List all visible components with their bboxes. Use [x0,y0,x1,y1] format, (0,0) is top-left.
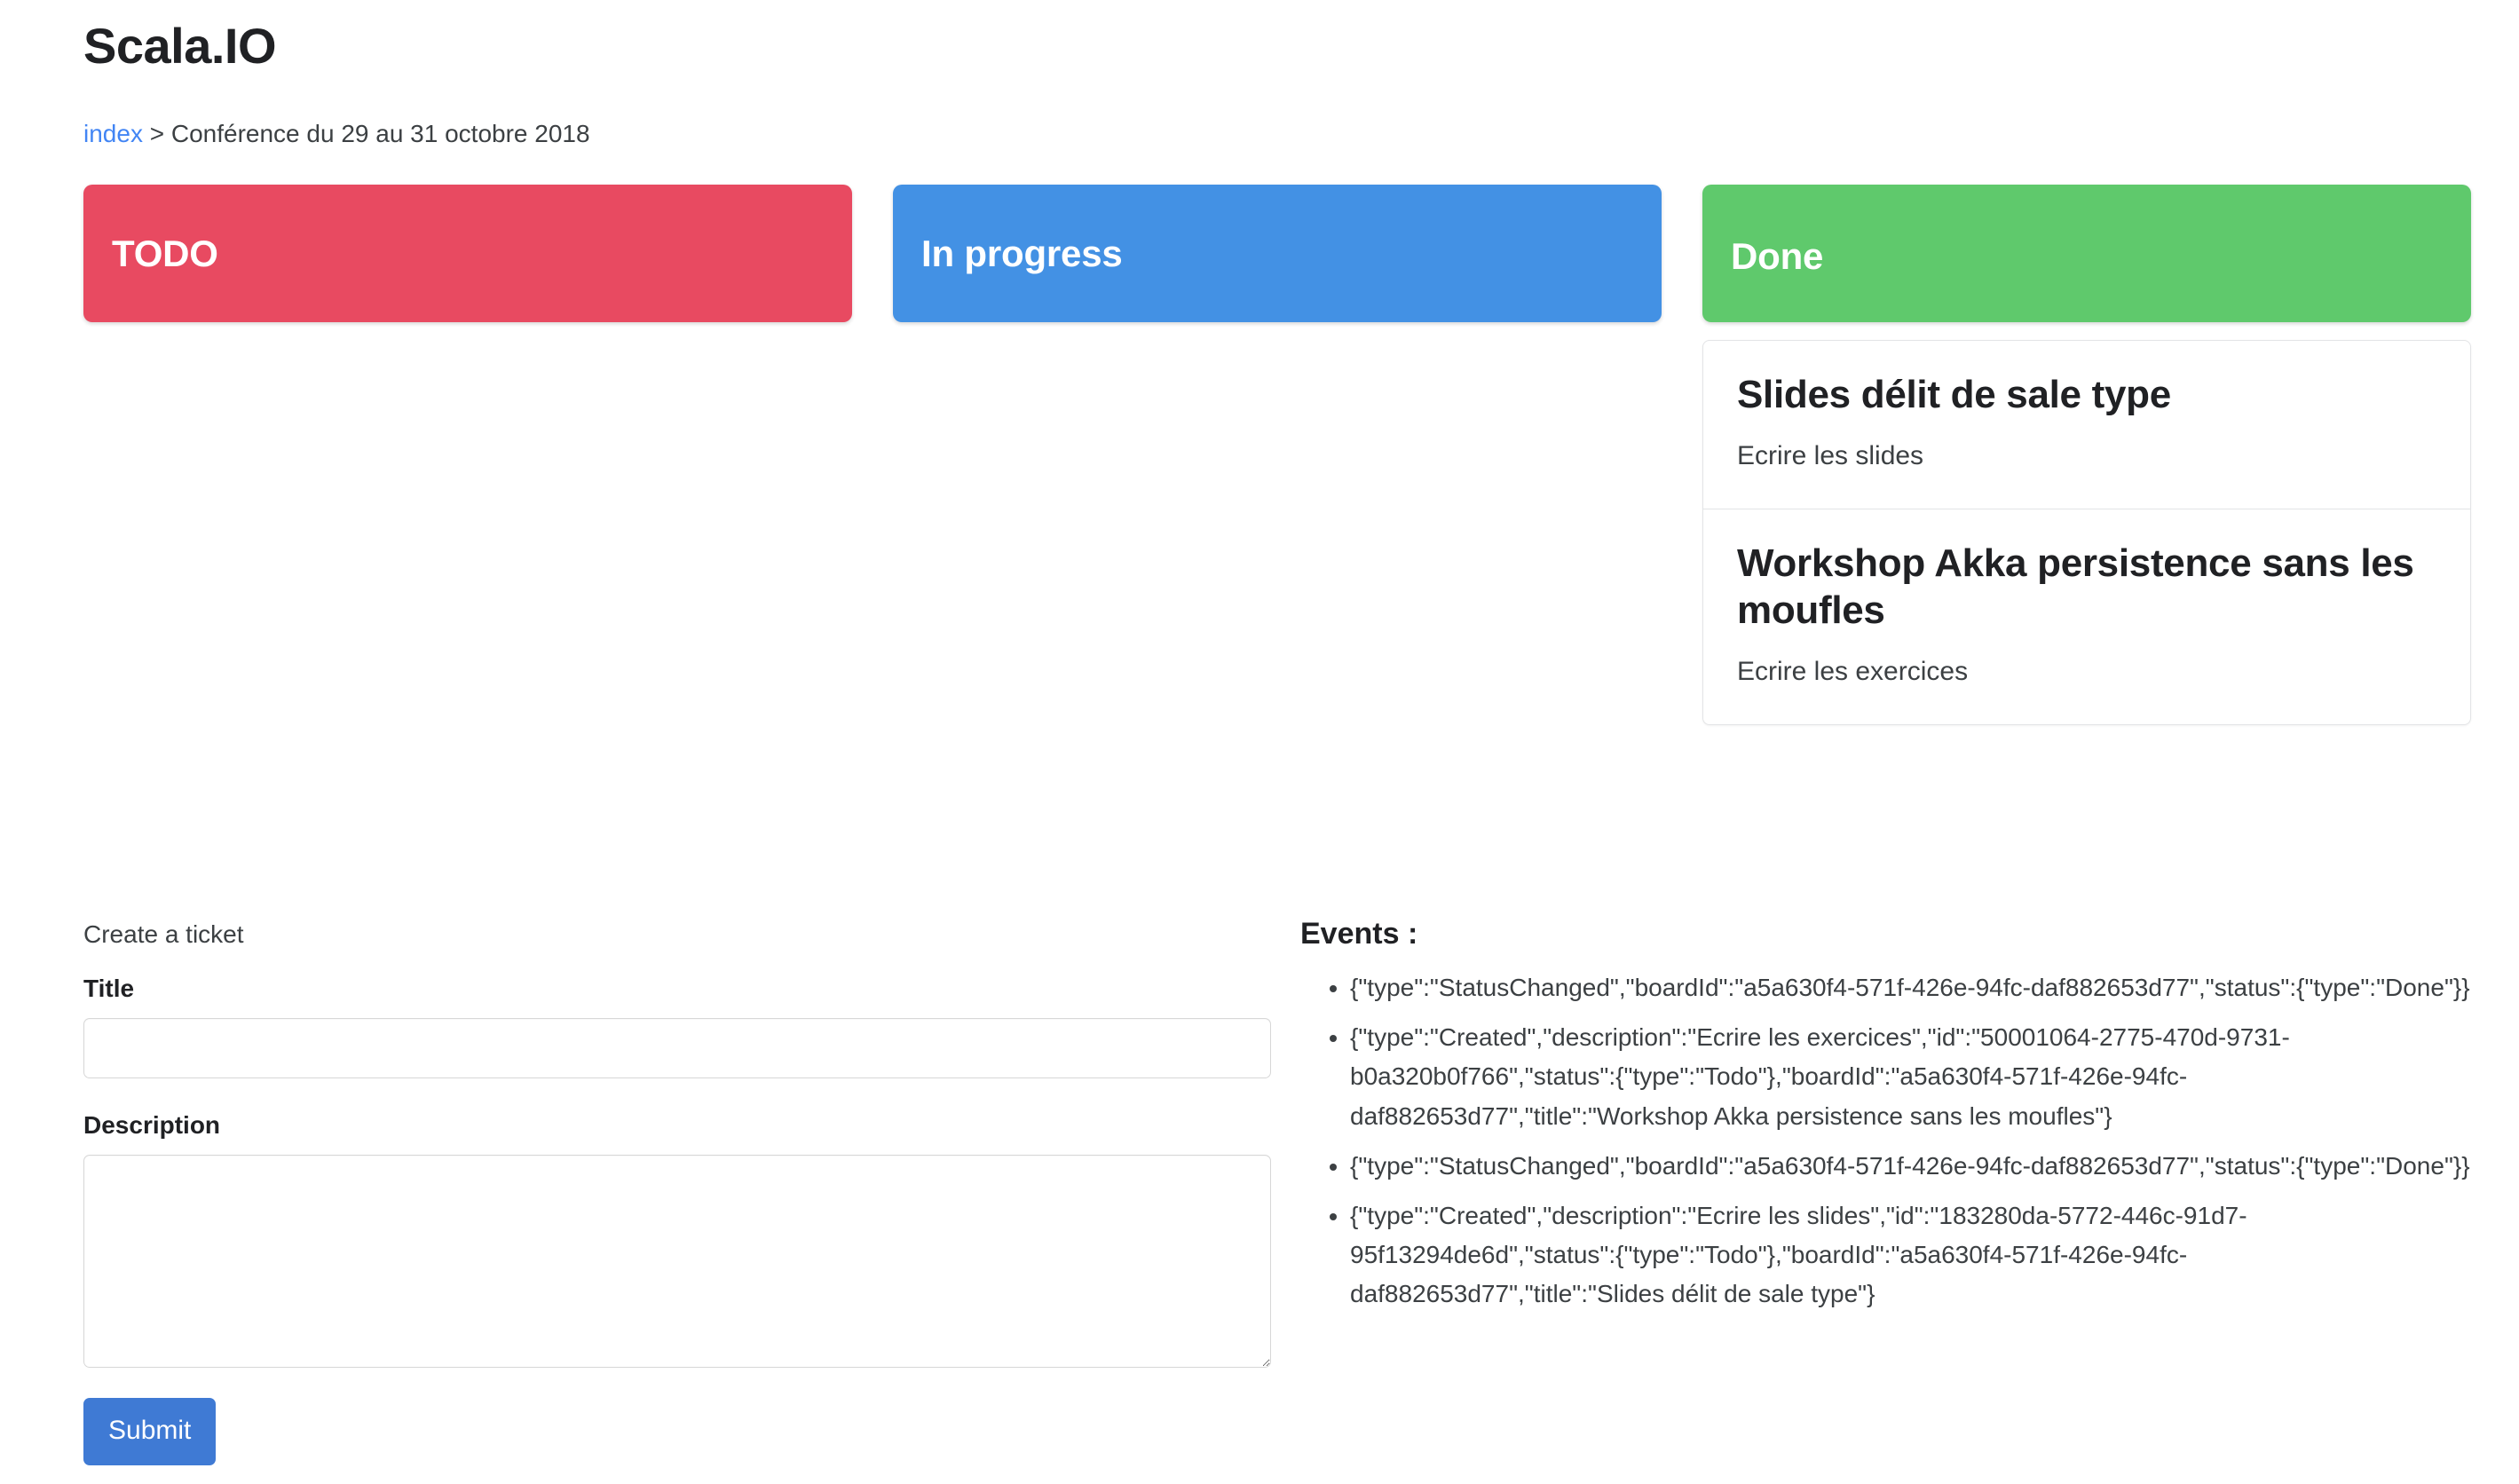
page-title: Scala.IO [83,18,276,75]
event-list-item: {"type":"Created","description":"Ecrire … [1350,1196,2481,1314]
breadcrumb: index > Conférence du 29 au 31 octobre 2… [83,118,590,150]
event-list-item: {"type":"StatusChanged","boardId":"a5a63… [1350,1147,2481,1186]
column-header-todo[interactable]: TODO [83,185,852,322]
ticket-title: Slides délit de sale type [1737,371,2436,419]
ticket-title: Workshop Akka persistence sans les moufl… [1737,540,2436,635]
kanban-board: TODO In progress Done Slides délit de sa… [83,185,2471,895]
form-spacer [83,1078,1273,1110]
breadcrumb-current: Conférence du 29 au 31 octobre 2018 [171,120,590,147]
breadcrumb-separator: > [150,120,164,147]
breadcrumb-link-index[interactable]: index [83,120,143,147]
form-legend: Create a ticket [83,919,1273,951]
submit-row: Submit [83,1398,1273,1465]
submit-button[interactable]: Submit [83,1398,216,1465]
column-title-done: Done [1731,235,1823,278]
board-column-done: Done Slides délit de sale type Ecrire le… [1702,185,2471,725]
board-column-in-progress: In progress [893,185,1662,340]
ticket-card[interactable]: Workshop Akka persistence sans les moufl… [1702,509,2471,725]
ticket-description: Ecrire les exercices [1737,654,2436,689]
description-field-label: Description [83,1110,1273,1141]
ticket-description: Ecrire les slides [1737,438,2436,473]
events-list: {"type":"StatusChanged","boardId":"a5a63… [1300,968,2481,1314]
kanban-page: Scala.IO index > Conférence du 29 au 31 … [0,0,2519,1484]
card-list-done: Slides délit de sale type Ecrire les sli… [1702,340,2471,725]
title-input[interactable] [83,1018,1271,1078]
event-list-item: {"type":"StatusChanged","boardId":"a5a63… [1350,968,2481,1007]
description-textarea[interactable] [83,1155,1271,1368]
create-ticket-form: Create a ticket Title Description Submit [83,919,1273,1465]
event-list-item: {"type":"Created","description":"Ecrire … [1350,1018,2481,1136]
column-header-in-progress[interactable]: In progress [893,185,1662,322]
events-panel: Events : {"type":"StatusChanged","boardI… [1300,916,2481,1325]
ticket-card[interactable]: Slides délit de sale type Ecrire les sli… [1702,340,2471,509]
title-field-label: Title [83,974,1273,1004]
board-column-todo: TODO [83,185,852,340]
column-header-done[interactable]: Done [1702,185,2471,322]
column-title-todo: TODO [112,233,218,275]
events-title: Events : [1300,916,2481,952]
column-title-in-progress: In progress [921,233,1123,275]
